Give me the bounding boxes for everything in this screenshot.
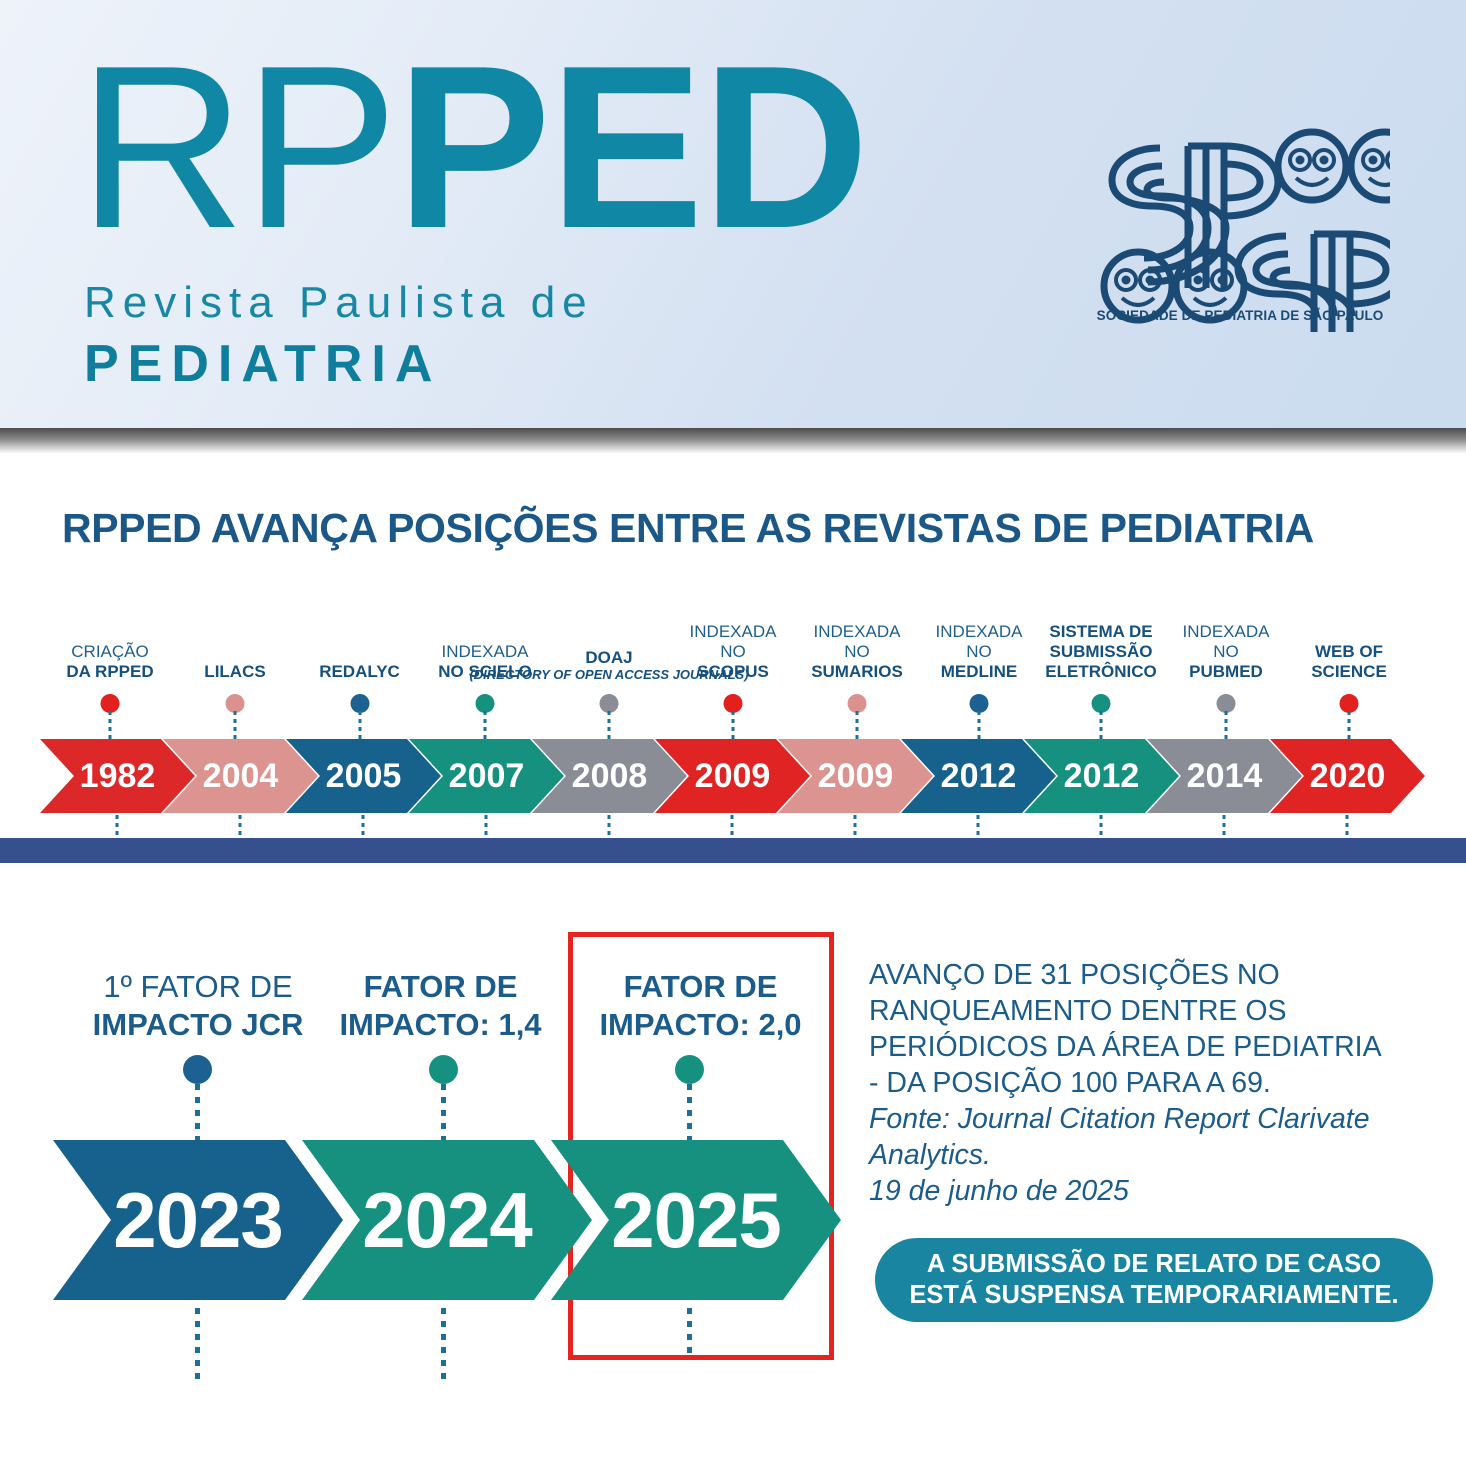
ranking-source-line2: 19 de junho de 2025: [869, 1173, 1449, 1209]
impact-label-2023-line1: 1º FATOR DE: [103, 969, 292, 1004]
timeline-stem-lower-7: [977, 815, 980, 838]
timeline-label-5: INDEXADANOSCOPUS: [690, 622, 777, 682]
timeline-col-0: CRIAÇÃODA RPPED: [45, 612, 175, 708]
ranking-note-line1: AVANÇO DE 31 POSIÇÕES NO: [869, 959, 1280, 991]
impact-stem-2025-lower: [687, 1308, 692, 1356]
impact-chevron-year: 2025: [611, 1175, 781, 1266]
timeline-stem-lower-9: [1223, 815, 1226, 838]
chevron-year-label: 2020: [1310, 757, 1386, 796]
timeline-stem-lower-0: [116, 815, 119, 838]
timeline-label-0: CRIAÇÃODA RPPED: [66, 642, 153, 682]
impact-dot-2024: [429, 1055, 458, 1084]
timeline-label-1: LILACS: [204, 662, 265, 682]
chevron-year-label: 2009: [695, 757, 771, 796]
timeline-label-9: INDEXADANOPUBMED: [1183, 622, 1270, 682]
chevron-year-label: 1982: [80, 757, 156, 796]
timeline-col-10: WEB OFSCIENCE: [1285, 612, 1413, 708]
ranking-note-line4: - DA POSIÇÃO 100 PARA A 69.: [869, 1067, 1271, 1099]
impact-label-2024-line1: FATOR DE: [364, 969, 518, 1004]
impact-dot-2023: [183, 1055, 212, 1084]
impact-label-2025: FATOR DE IMPACTO: 2,0: [578, 968, 823, 1044]
timeline-col-4: DOAJ(DIRECTORY OF OPEN ACCESS JOURNALS): [545, 612, 673, 708]
rpped-wordmark: RPPED: [78, 42, 938, 254]
timeline-col-2: REDALYC: [297, 612, 422, 708]
impact-stem-2024-upper: [441, 1084, 446, 1146]
chevron-year-label: 2009: [818, 757, 894, 796]
page-title: RPPED AVANÇA POSIÇÕES ENTRE AS REVISTAS …: [62, 505, 1314, 552]
timeline-col-5: INDEXADANOSCOPUS: [670, 612, 796, 708]
rpped-subtitle-line1: Revista Paulista de: [84, 278, 938, 328]
impact-stem-2023-upper: [195, 1084, 200, 1146]
timeline-stem-lower-10: [1346, 815, 1349, 838]
timeline-col-7: INDEXADANOMEDLINE: [916, 612, 1042, 708]
notice-line2: ESTÁ SUSPENSA TEMPORARIAMENTE.: [909, 1280, 1398, 1311]
ranking-source-line1: Fonte: Journal Citation Report Clarivate…: [869, 1101, 1449, 1173]
rpped-subtitle-line2: PEDIATRIA: [84, 334, 938, 394]
impact-stem-2025-upper: [687, 1084, 692, 1146]
timeline-col-6: INDEXADANOSUMARIOS: [793, 612, 921, 708]
timeline-label-2: REDALYC: [319, 662, 400, 682]
timeline-col-1: LILACS: [176, 612, 294, 708]
impact-chevron-2023: 2023: [53, 1140, 343, 1300]
timeline-col-9: INDEXADANOPUBMED: [1165, 612, 1287, 708]
timeline-stem-3: [484, 711, 487, 740]
timeline-stem-0: [109, 711, 112, 740]
chevron-year-label: 2004: [203, 757, 279, 796]
impact-label-2025-line1: FATOR DE: [624, 969, 778, 1004]
impact-stem-2023-lower: [195, 1308, 200, 1380]
notice-line1: A SUBMISSÃO DE RELATO DE CASO: [927, 1249, 1381, 1280]
timeline-chevron-1982: 1982: [40, 739, 195, 813]
timeline-stem-lower-8: [1100, 815, 1103, 838]
impact-chevron-2024: 2024: [302, 1140, 592, 1300]
header-divider-shadow: [0, 428, 1466, 454]
timeline-stem-5: [732, 711, 735, 740]
impact-chevron-year: 2023: [113, 1175, 283, 1266]
timeline-label-10: WEB OFSCIENCE: [1311, 642, 1387, 682]
impact-label-2023: 1º FATOR DE IMPACTO JCR: [63, 968, 333, 1044]
rpped-logo: RPPED Revista Paulista de PEDIATRIA: [78, 42, 938, 382]
milestone-timeline: CRIAÇÃODA RPPED LILACS REDALYC INDEXADAN…: [0, 612, 1466, 842]
submission-suspended-notice[interactable]: A SUBMISSÃO DE RELATO DE CASO ESTÁ SUSPE…: [875, 1238, 1433, 1322]
timeline-label-7: INDEXADANOMEDLINE: [936, 622, 1023, 682]
timeline-stem-lower-5: [731, 815, 734, 838]
ranking-note-line2: RANQUEAMENTO DENTRE OS: [869, 995, 1287, 1027]
timeline-stem-8: [1100, 711, 1103, 740]
ranking-note-line3: PERIÓDICOS DA ÁREA DE PEDIATRIA: [869, 1031, 1382, 1063]
rpped-wordmark-light: RP: [78, 18, 396, 277]
timeline-stem-10: [1348, 711, 1351, 740]
chevron-year-label: 2014: [1187, 757, 1263, 796]
timeline-label-6: INDEXADANOSUMARIOS: [811, 622, 903, 682]
timeline-stem-4: [608, 711, 611, 740]
impact-label-2025-line2: IMPACTO: 2,0: [599, 1007, 801, 1042]
chevron-year-label: 2012: [941, 757, 1017, 796]
rpped-wordmark-bold: PED: [396, 18, 867, 277]
timeline-col-8: SISTEMA DESUBMISSÃOELETRÔNICO: [1033, 612, 1169, 708]
timeline-label-8: SISTEMA DESUBMISSÃOELETRÔNICO: [1045, 622, 1156, 682]
spsp-logo-caption: SOCIEDADE DE PEDIATRIA DE SÃO PAULO: [1090, 308, 1390, 323]
impact-label-2024-line2: IMPACTO: 1,4: [339, 1007, 541, 1042]
section-divider-band: [0, 838, 1466, 863]
chevron-year-label: 2007: [449, 757, 525, 796]
timeline-stem-1: [234, 711, 237, 740]
impact-stem-2024-lower: [441, 1308, 446, 1380]
impact-label-2023-line2: IMPACTO JCR: [93, 1007, 304, 1042]
chevron-year-label: 2012: [1064, 757, 1140, 796]
spsp-society-logo-icon: [1090, 118, 1390, 333]
timeline-stem-2: [358, 711, 361, 740]
impact-dot-2025: [675, 1055, 704, 1084]
timeline-stem-lower-4: [608, 815, 611, 838]
ranking-note: AVANÇO DE 31 POSIÇÕES NO RANQUEAMENTO DE…: [869, 957, 1449, 1209]
header-banner: RPPED Revista Paulista de PEDIATRIA: [0, 0, 1466, 428]
timeline-stem-9: [1225, 711, 1228, 740]
impact-label-2024: FATOR DE IMPACTO: 1,4: [318, 968, 563, 1044]
timeline-stem-lower-1: [239, 815, 242, 838]
chevron-year-label: 2005: [326, 757, 402, 796]
timeline-stem-lower-2: [362, 815, 365, 838]
timeline-stem-6: [856, 711, 859, 740]
timeline-stem-7: [978, 711, 981, 740]
timeline-stem-lower-6: [854, 815, 857, 838]
chevron-year-label: 2008: [572, 757, 648, 796]
timeline-stem-lower-3: [485, 815, 488, 838]
impact-chevron-year: 2024: [362, 1175, 532, 1266]
